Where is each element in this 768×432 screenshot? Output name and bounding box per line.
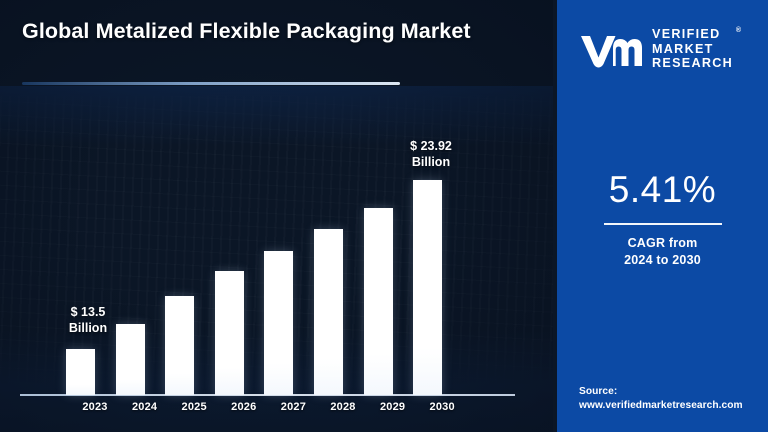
brand-word-market: MARKET — [652, 42, 733, 56]
source-block: Source: www.verifiedmarketresearch.com — [579, 385, 764, 413]
cagr-value: 5.41% — [557, 168, 768, 212]
x-tick-label-2029: 2029 — [365, 401, 421, 413]
bar-chart-plot: $ 13.5 Billion $ 23.92 Billion 202320242… — [0, 0, 553, 432]
x-tick-label-2030: 2030 — [414, 401, 470, 413]
cagr-caption: CAGR from 2024 to 2030 — [557, 235, 768, 269]
value-label-last: $ 23.92 Billion — [383, 138, 479, 170]
brand-word-research: RESEARCH — [652, 56, 733, 70]
bar-2027 — [264, 251, 293, 395]
bar-2026 — [215, 271, 244, 395]
infographic-root: Global Metalized Flexible Packaging Mark… — [0, 0, 768, 432]
cagr-caption-line-2: 2024 to 2030 — [557, 252, 768, 269]
value-label-first-amount: $ 13.5 — [40, 304, 136, 320]
source-url[interactable]: www.verifiedmarketresearch.com — [579, 399, 764, 413]
bar-2028 — [314, 229, 343, 395]
x-tick-label-2024: 2024 — [117, 401, 173, 413]
cagr-caption-line-1: CAGR from — [557, 235, 768, 252]
brand-panel: VERIFIED MARKET RESEARCH ® 5.41% CAGR fr… — [557, 0, 768, 432]
bar-2030 — [413, 180, 442, 395]
x-tick-label-2028: 2028 — [315, 401, 371, 413]
chart-panel: Global Metalized Flexible Packaging Mark… — [0, 0, 553, 432]
bar-2024 — [116, 324, 145, 395]
x-tick-label-2023: 2023 — [67, 401, 123, 413]
value-label-last-amount: $ 23.92 — [383, 138, 479, 154]
vmr-monogram-icon — [579, 29, 643, 69]
bar-2025 — [165, 296, 194, 395]
cagr-block: 5.41% CAGR from 2024 to 2030 — [557, 168, 768, 269]
x-tick-label-2027: 2027 — [265, 401, 321, 413]
source-label: Source: — [579, 385, 764, 399]
brand-logo: VERIFIED MARKET RESEARCH ® — [579, 20, 755, 78]
brand-wordmark: VERIFIED MARKET RESEARCH ® — [652, 27, 733, 70]
bar-2023 — [66, 349, 95, 395]
x-tick-label-2025: 2025 — [166, 401, 222, 413]
registered-trademark-icon: ® — [736, 24, 741, 38]
x-tick-label-2026: 2026 — [216, 401, 272, 413]
bar-2029 — [364, 208, 393, 395]
brand-word-verified: VERIFIED — [652, 27, 733, 41]
value-label-last-unit: Billion — [383, 154, 479, 170]
panel-divider — [549, 0, 557, 432]
cagr-divider — [604, 223, 722, 225]
